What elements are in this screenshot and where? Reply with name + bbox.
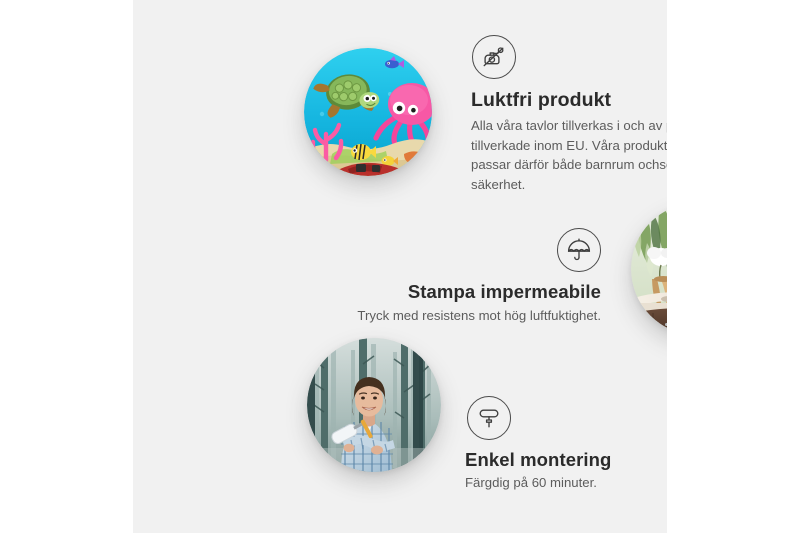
feature-odorless-title: Luktfri produkt	[471, 88, 667, 112]
feature-odorless-body: Alla våra tavlor tillverkas i och av pro…	[471, 116, 667, 194]
paint-roller-icon	[467, 396, 511, 440]
umbrella-icon	[557, 228, 601, 272]
feature-easy-body: Färgdig på 60 minuter.	[465, 473, 667, 493]
feature-odorless-icon-wrap	[471, 35, 667, 79]
feature-easy-icon-wrap	[465, 396, 667, 440]
underwater-scene-photo	[304, 48, 432, 176]
content-panel: Luktfri produkt Alla våra tavlor tillver…	[133, 0, 667, 533]
feature-waterproof-body: Tryck med resistens mot hög luftfuktighe…	[351, 306, 601, 326]
feature-waterproof-title: Stampa impermeabile	[351, 280, 601, 303]
no-fragrance-icon	[472, 35, 516, 79]
feature-waterproof-icon-wrap	[351, 228, 601, 272]
page-root: Luktfri produkt Alla våra tavlor tillver…	[0, 0, 800, 533]
feature-easy-assembly: Enkel montering Färgdig på 60 minuter.	[465, 396, 667, 493]
feature-waterproof: Stampa impermeabile Tryck med resistens …	[351, 228, 601, 326]
feature-odorless: Luktfri produkt Alla våra tavlor tillver…	[471, 35, 667, 195]
bathroom-interior-photo	[631, 203, 667, 335]
feature-easy-title: Enkel montering	[465, 448, 667, 471]
forest-wallpaper-photo	[307, 338, 441, 472]
